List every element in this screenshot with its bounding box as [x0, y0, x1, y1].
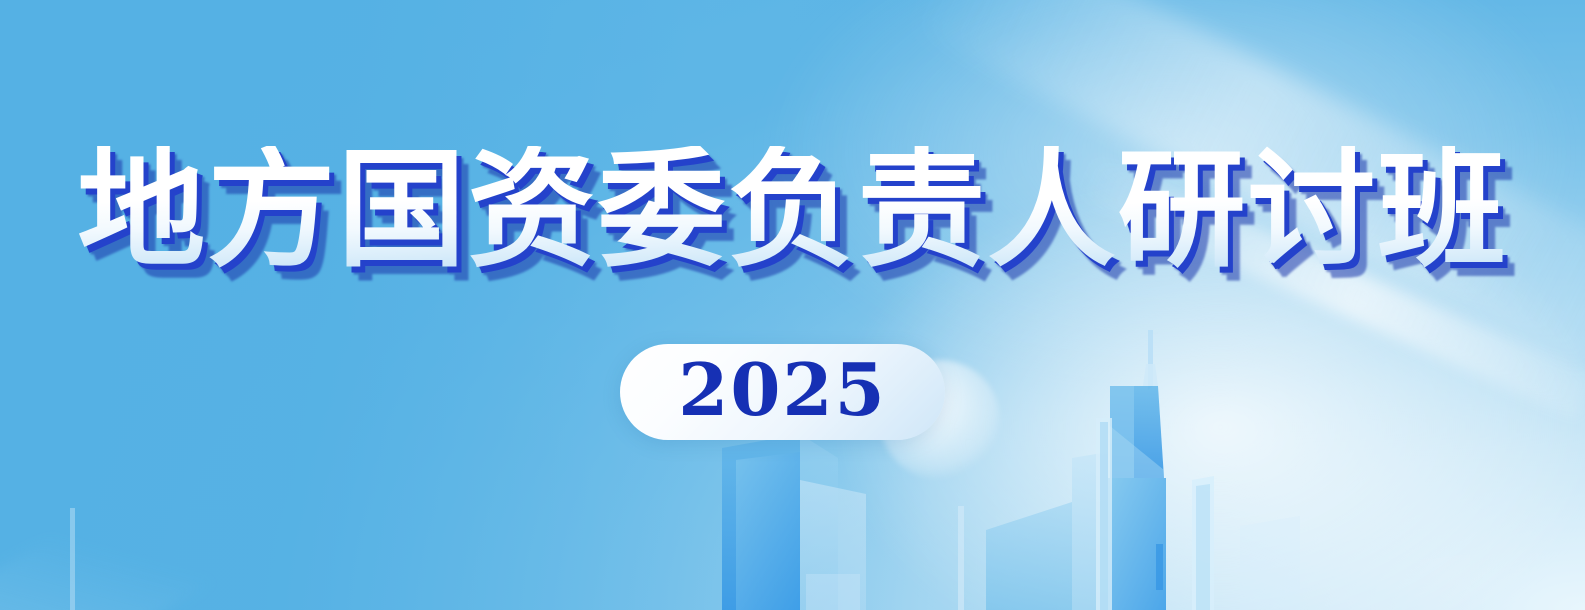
- banner-root: 地 方 国 资 委 负 责 人 研 讨 班 2025: [0, 0, 1585, 610]
- year-badge: 2025: [620, 344, 945, 440]
- year-badge-label: 2025: [678, 354, 886, 426]
